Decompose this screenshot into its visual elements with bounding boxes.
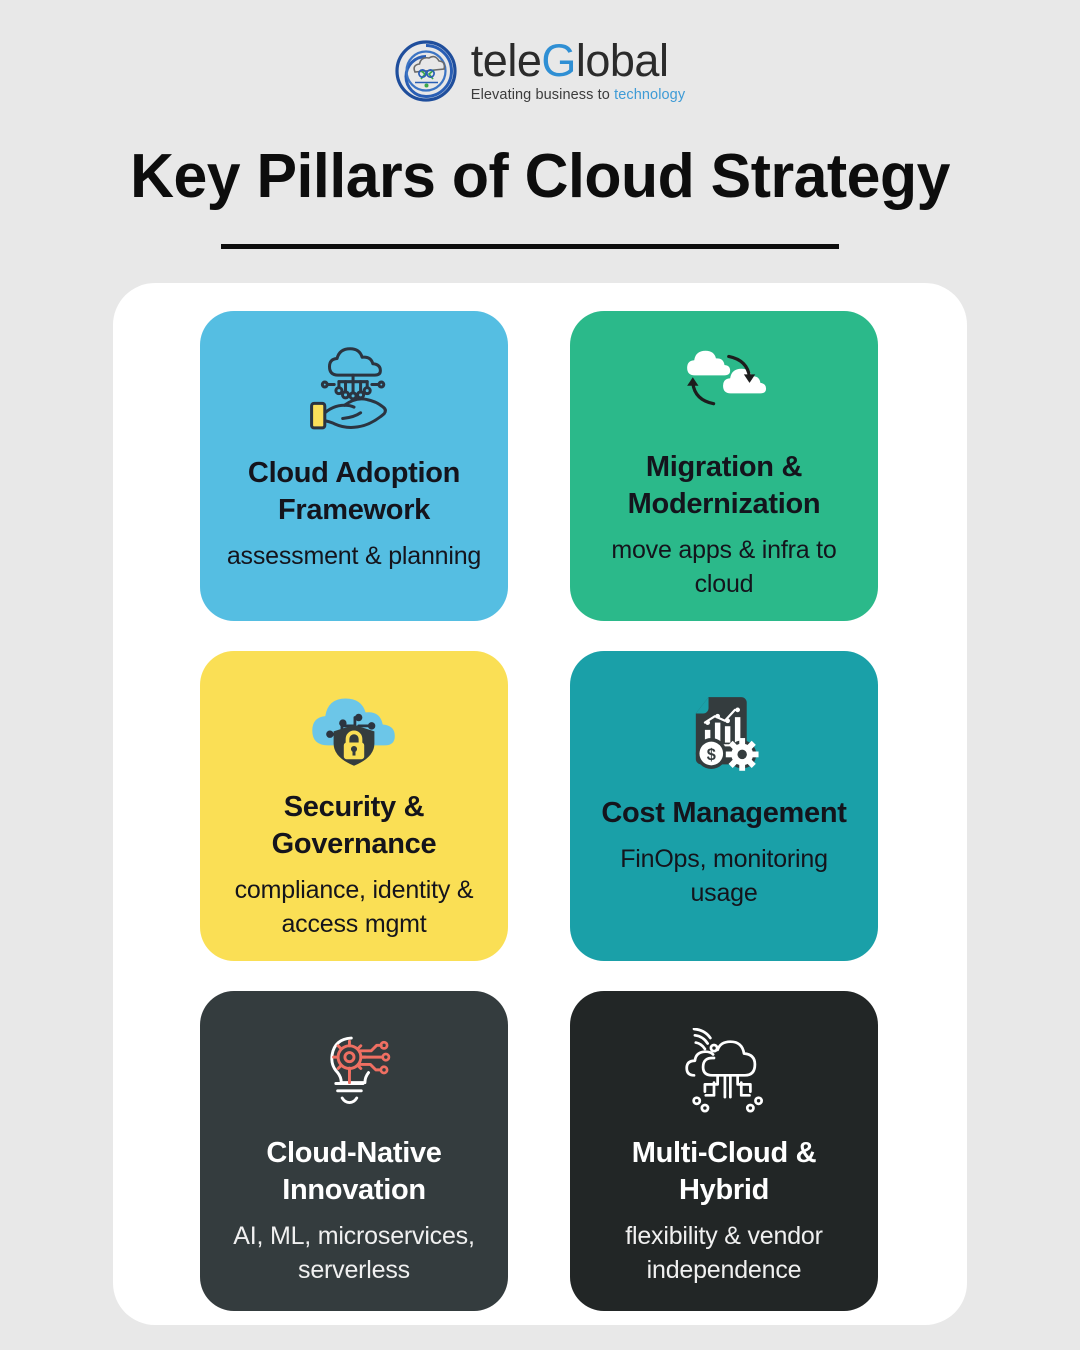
card-subtitle: compliance, identity & access mgmt	[218, 873, 490, 941]
brand-text-block: teleGlobal Elevating business to technol…	[471, 38, 685, 104]
svg-text:$: $	[707, 745, 716, 763]
cloud-migration-arrows-icon	[672, 337, 776, 443]
card-subtitle: AI, ML, microservices, serverless	[218, 1219, 490, 1287]
pillar-card-migration-modernization[interactable]: Migration & Modernization move apps & in…	[570, 311, 878, 621]
teleglobal-logo-icon	[395, 40, 457, 102]
card-subtitle: flexibility & vendor independence	[588, 1219, 860, 1287]
page-title: Key Pillars of Cloud Strategy	[11, 140, 1069, 214]
pillar-card-cloud-native-innovation[interactable]: Cloud-Native Innovation AI, ML, microser…	[200, 991, 508, 1311]
card-subtitle: assessment & planning	[227, 539, 481, 573]
card-subtitle: FinOps, monitoring usage	[588, 842, 860, 910]
pillar-card-cloud-adoption-framework[interactable]: Cloud Adoption Framework assessment & pl…	[200, 311, 508, 621]
card-title: Security & Governance	[218, 789, 490, 863]
card-title: Migration & Modernization	[588, 449, 860, 523]
tagline-accent-text: technology	[614, 87, 685, 103]
brand-header: teleGlobal Elevating business to technol…	[0, 38, 1080, 104]
title-divider	[221, 244, 839, 249]
lightbulb-gear-circuit-icon	[304, 1017, 404, 1129]
pillar-card-grid: Cloud Adoption Framework assessment & pl…	[200, 311, 890, 1311]
pillar-card-security-governance[interactable]: Security & Governance compliance, identi…	[200, 651, 508, 961]
cost-report-chart-gear-icon: $	[674, 677, 774, 789]
wordmark-accent-letter: G	[541, 35, 576, 86]
multi-cloud-circuit-wifi-icon	[674, 1017, 774, 1129]
cloud-shield-lock-icon	[303, 677, 405, 783]
pillar-card-multi-cloud-hybrid[interactable]: Multi-Cloud & Hybrid flexibility & vendo…	[570, 991, 878, 1311]
wordmark-part-two: lobal	[576, 35, 669, 86]
card-title: Cloud-Native Innovation	[218, 1135, 490, 1209]
pillar-card-cost-management[interactable]: $ Cost	[570, 651, 878, 961]
card-title: Cloud Adoption Framework	[218, 455, 490, 529]
hand-holding-cloud-network-icon	[302, 337, 406, 449]
tagline-plain-text: Elevating business to	[471, 87, 614, 103]
brand-wordmark: teleGlobal	[471, 38, 685, 83]
card-title: Cost Management	[601, 795, 846, 832]
card-subtitle: move apps & infra to cloud	[588, 533, 860, 601]
brand-tagline: Elevating business to technology	[471, 86, 685, 104]
card-title: Multi-Cloud & Hybrid	[588, 1135, 860, 1209]
wordmark-part-one: tele	[471, 35, 542, 86]
